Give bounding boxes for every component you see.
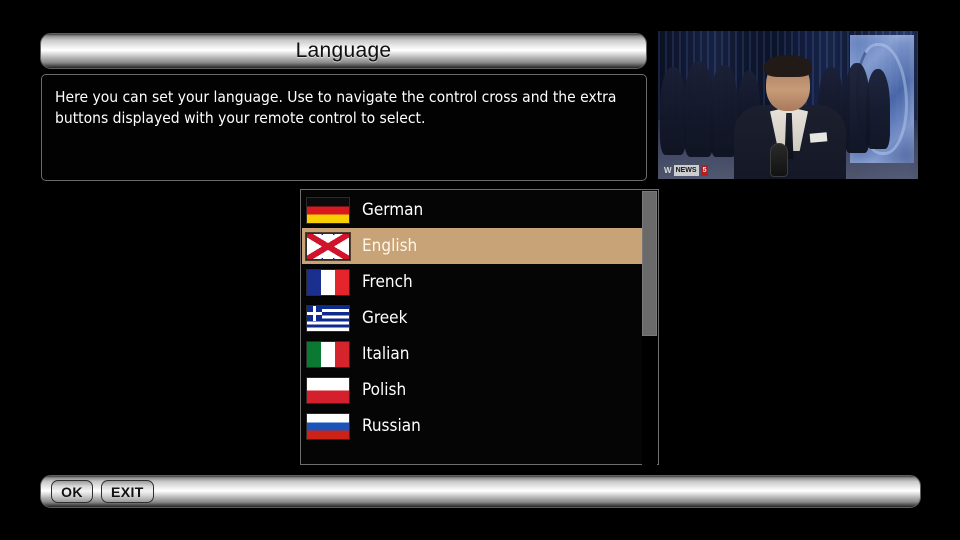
video-reporter-pocket-square	[810, 132, 828, 142]
page-title: Language	[296, 39, 392, 63]
broadcaster-watermark: W NEWS 5	[664, 165, 708, 176]
exit-button[interactable]: EXIT	[101, 480, 154, 503]
watermark-prefix: W	[664, 166, 672, 175]
description-text: Here you can set your language. Use to n…	[55, 87, 633, 129]
flag-poland-icon	[306, 377, 350, 404]
video-crowd-figure	[660, 67, 686, 155]
softkey-bar: OK EXIT	[40, 475, 921, 508]
flag-france-icon	[306, 269, 350, 296]
list-item[interactable]: English	[302, 228, 643, 264]
list-item-label: Russian	[362, 416, 421, 436]
list-item[interactable]: Russian	[302, 408, 643, 444]
video-crowd-figure	[866, 69, 890, 149]
flag-germany-icon	[306, 197, 350, 224]
watermark-suffix: 5	[701, 165, 709, 176]
video-reporter-hair	[764, 55, 812, 77]
list-item[interactable]: Polish	[302, 372, 643, 408]
list-item[interactable]: Italian	[302, 336, 643, 372]
list-item[interactable]: French	[302, 264, 643, 300]
list-scrollbar-thumb[interactable]	[642, 191, 657, 336]
video-preview[interactable]: W NEWS 5	[658, 31, 918, 179]
ok-button[interactable]: OK	[51, 480, 93, 503]
list-scrollbar-track[interactable]	[642, 191, 657, 465]
watermark-word: NEWS	[674, 165, 699, 176]
flag-italy-icon	[306, 341, 350, 368]
flag-russia-icon	[306, 413, 350, 440]
list-item-label: Italian	[362, 344, 409, 364]
language-list-panel: German English French Greek Italian Poli	[300, 189, 659, 465]
list-item[interactable]: German	[302, 192, 643, 228]
video-microphone	[770, 143, 788, 177]
list-item[interactable]: Greek	[302, 300, 643, 336]
flag-united-kingdom-icon	[306, 233, 350, 260]
page-title-bar: Language	[40, 33, 647, 69]
exit-button-label: EXIT	[111, 484, 144, 500]
list-item-label: Polish	[362, 380, 406, 400]
language-list: German English French Greek Italian Poli	[302, 192, 643, 444]
description-panel: Here you can set your language. Use to n…	[41, 74, 647, 181]
list-item-label: German	[362, 200, 423, 220]
ok-button-label: OK	[61, 484, 83, 500]
list-item-label: Greek	[362, 308, 407, 328]
list-item-label: English	[362, 236, 417, 256]
list-item-label: French	[362, 272, 413, 292]
tv-settings-screen: Language Here you can set your language.…	[0, 0, 960, 540]
flag-greece-icon	[306, 305, 350, 332]
